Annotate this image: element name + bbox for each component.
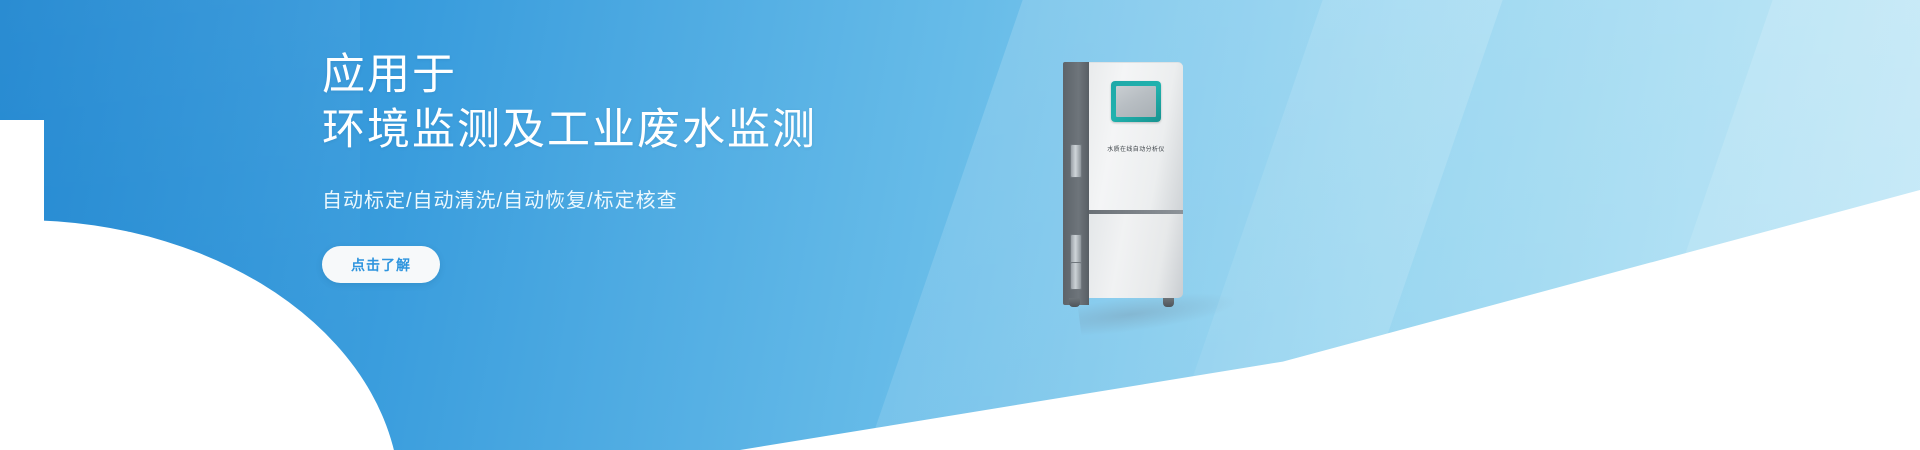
device-lower-handle xyxy=(1070,262,1082,290)
bottom-left-cutout-fill xyxy=(0,120,44,450)
hero-banner: 应用于 环境监测及工业废水监测 自动标定/自动清洗/自动恢复/标定核查 点击了解… xyxy=(0,0,1920,450)
learn-more-button[interactable]: 点击了解 xyxy=(322,246,440,283)
device-caster-left xyxy=(1069,298,1080,307)
device-body: 水质在线自动分析仪 xyxy=(1063,62,1183,305)
device-caster-right xyxy=(1163,298,1174,307)
device-panel-label: 水质在线自动分析仪 xyxy=(1089,144,1183,153)
device-screen-glass xyxy=(1116,86,1156,117)
device-screen-bezel xyxy=(1111,81,1161,122)
device-lower-door xyxy=(1089,214,1183,298)
headline-line-2: 环境监测及工业废水监测 xyxy=(322,103,1042,158)
headline: 应用于 环境监测及工业废水监测 xyxy=(322,48,1042,158)
subtitle: 自动标定/自动清洗/自动恢复/标定核查 xyxy=(322,184,1042,213)
headline-line-1: 应用于 xyxy=(322,51,457,99)
banner-content: 应用于 环境监测及工业废水监测 自动标定/自动清洗/自动恢复/标定核查 点击了解 xyxy=(322,48,1042,283)
water-quality-analyzer-image: 水质在线自动分析仪 xyxy=(1063,62,1183,314)
device-upper-handle xyxy=(1070,144,1082,178)
